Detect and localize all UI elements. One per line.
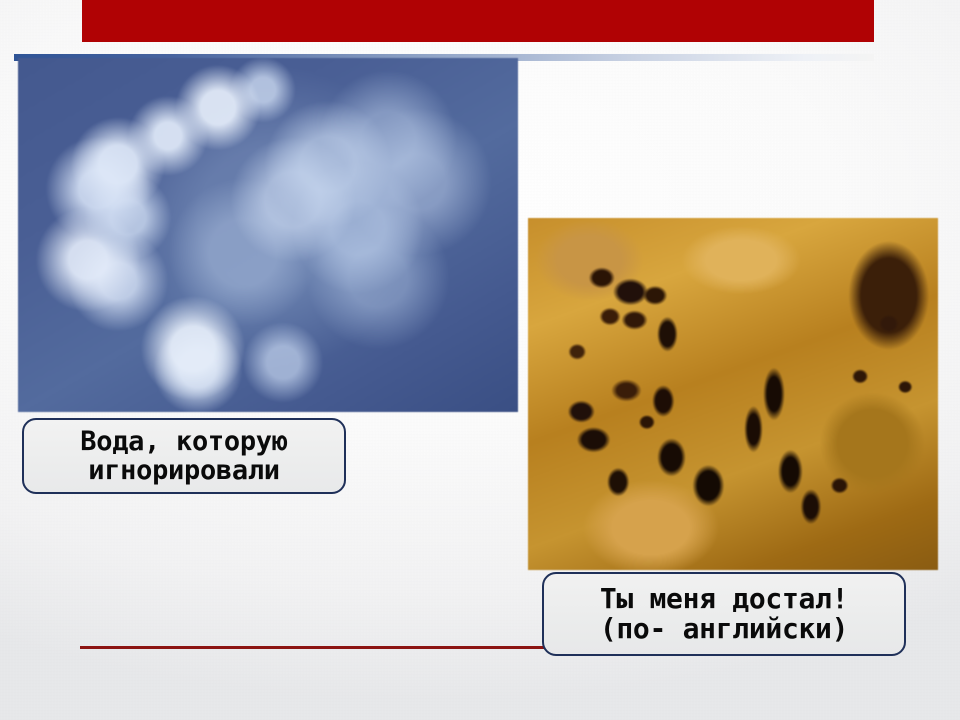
top-red-banner xyxy=(82,0,874,42)
callout-blue-crystal: Вода, которую игнорировали xyxy=(22,418,346,494)
presentation-slide: Вода, которую игнорировали Ты меня доста… xyxy=(0,0,960,720)
callout-blue-line-2: игнорировали xyxy=(88,456,279,485)
image-blue-crystal xyxy=(18,58,518,412)
callout-blue-line-1: Вода, которую xyxy=(80,427,287,456)
callout-gold-line-1: Ты меня достал! xyxy=(600,584,848,614)
image-gold-crystal xyxy=(528,218,938,570)
callout-gold-line-2: (по- английски) xyxy=(600,614,848,644)
callout-gold-crystal: Ты меня достал! (по- английски) xyxy=(542,572,906,656)
